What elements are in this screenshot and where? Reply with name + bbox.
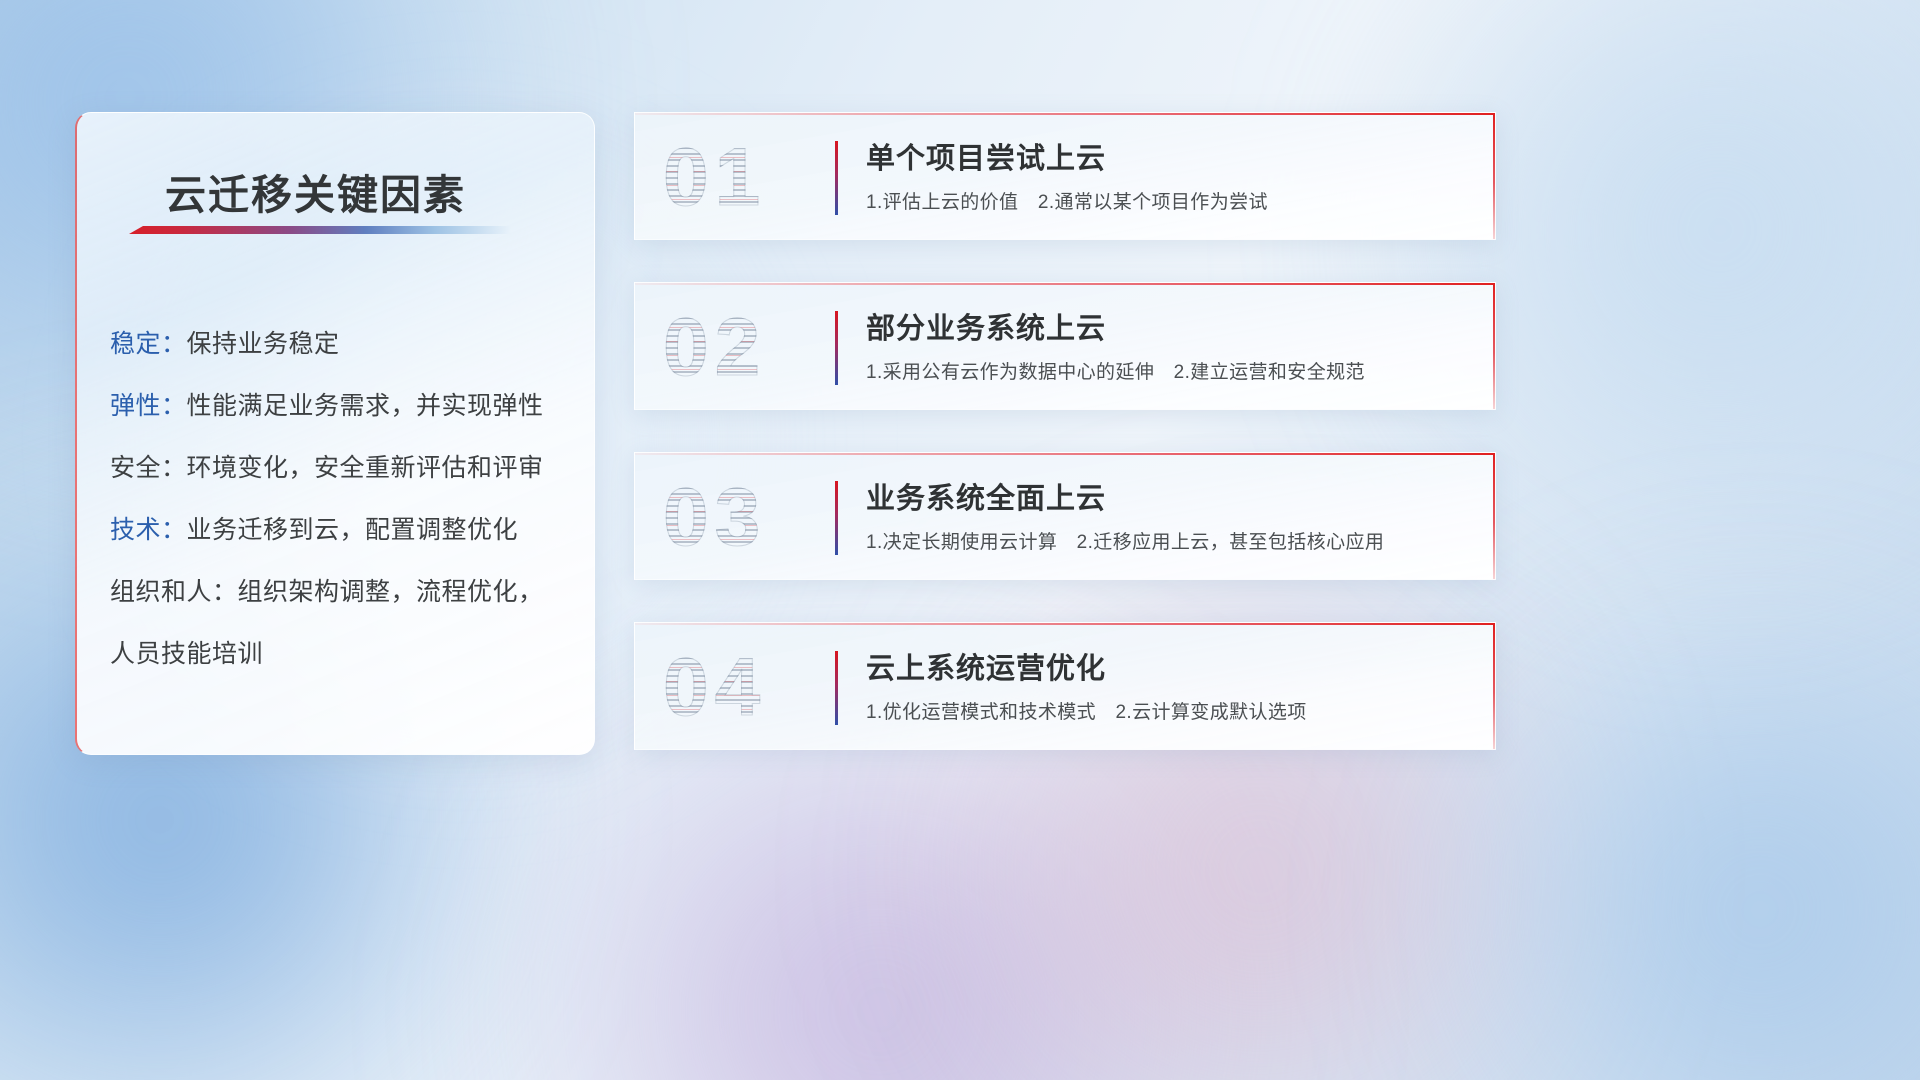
factor-row: 组织和人：组织架构调整，流程优化， xyxy=(110,561,580,623)
step-divider-bar xyxy=(835,141,838,215)
factor-text: 性能满足业务需求，并实现弹性 xyxy=(187,392,544,420)
step-description: 1.优化运营模式和技术模式 2.云计算变成默认选项 xyxy=(866,697,1465,724)
step-card[interactable]: 0101单个项目尝试上云1.评估上云的价值 2.通常以某个项目作为尝试 xyxy=(634,112,1496,240)
step-description: 1.决定长期使用云计算 2.迁移应用上云，甚至包括核心应用 xyxy=(866,527,1465,554)
step-number-watermark: 03 xyxy=(663,469,843,567)
step-description: 1.评估上云的价值 2.通常以某个项目作为尝试 xyxy=(866,187,1465,214)
step-title: 云上系统运营优化 xyxy=(866,645,1465,687)
factor-label: 弹性： xyxy=(110,392,187,420)
step-divider-bar xyxy=(835,311,838,385)
title-underline-rule xyxy=(129,226,511,234)
step-card[interactable]: 0404云上系统运营优化1.优化运营模式和技术模式 2.云计算变成默认选项 xyxy=(634,622,1496,750)
factor-label: 稳定： xyxy=(110,330,187,358)
factor-row: 稳定：保持业务稳定 xyxy=(110,313,580,375)
step-card[interactable]: 0202部分业务系统上云1.采用公有云作为数据中心的延伸 2.建立运营和安全规范 xyxy=(634,282,1496,410)
factor-text: 保持业务稳定 xyxy=(187,330,340,358)
maturity-step-list: 0101单个项目尝试上云1.评估上云的价值 2.通常以某个项目作为尝试0202部… xyxy=(634,112,1496,792)
step-title: 部分业务系统上云 xyxy=(866,305,1465,347)
step-divider-bar xyxy=(835,651,838,725)
key-factors-panel: 云迁移关键因素 稳定：保持业务稳定弹性：性能满足业务需求，并实现弹性安全：环境变… xyxy=(75,112,595,755)
factor-row: 弹性：性能满足业务需求，并实现弹性 xyxy=(110,375,580,437)
factor-text: 人员技能培训 xyxy=(110,640,263,668)
factor-list: 稳定：保持业务稳定弹性：性能满足业务需求，并实现弹性安全：环境变化，安全重新评估… xyxy=(110,313,580,685)
step-body: 部分业务系统上云1.采用公有云作为数据中心的延伸 2.建立运营和安全规范 xyxy=(866,305,1465,384)
step-number-watermark: 01 xyxy=(663,129,843,227)
step-title: 业务系统全面上云 xyxy=(866,475,1465,517)
step-body: 云上系统运营优化1.优化运营模式和技术模式 2.云计算变成默认选项 xyxy=(866,645,1465,724)
step-body: 单个项目尝试上云1.评估上云的价值 2.通常以某个项目作为尝试 xyxy=(866,135,1465,214)
step-divider-bar xyxy=(835,481,838,555)
step-number-watermark: 02 xyxy=(663,299,843,397)
step-body: 业务系统全面上云1.决定长期使用云计算 2.迁移应用上云，甚至包括核心应用 xyxy=(866,475,1465,554)
step-number-watermark: 04 xyxy=(663,639,843,737)
step-description: 1.采用公有云作为数据中心的延伸 2.建立运营和安全规范 xyxy=(866,357,1465,384)
slide-stage: 云迁移关键因素 稳定：保持业务稳定弹性：性能满足业务需求，并实现弹性安全：环境变… xyxy=(0,0,1920,1080)
step-card[interactable]: 0303业务系统全面上云1.决定长期使用云计算 2.迁移应用上云，甚至包括核心应… xyxy=(634,452,1496,580)
factor-row: 安全：环境变化，安全重新评估和评审 xyxy=(110,437,580,499)
factor-row: 人员技能培训 xyxy=(110,623,580,685)
factor-row: 技术：业务迁移到云，配置调整优化 xyxy=(110,499,580,561)
step-title: 单个项目尝试上云 xyxy=(866,135,1465,177)
factor-label: 安全： xyxy=(110,454,187,482)
factor-text: 环境变化，安全重新评估和评审 xyxy=(187,454,544,482)
factor-label: 组织和人： xyxy=(110,578,238,606)
factor-label: 技术： xyxy=(110,516,187,544)
factor-text: 组织架构调整，流程优化， xyxy=(238,578,544,606)
factor-text: 业务迁移到云，配置调整优化 xyxy=(187,516,519,544)
page-title: 云迁移关键因素 xyxy=(165,161,466,221)
